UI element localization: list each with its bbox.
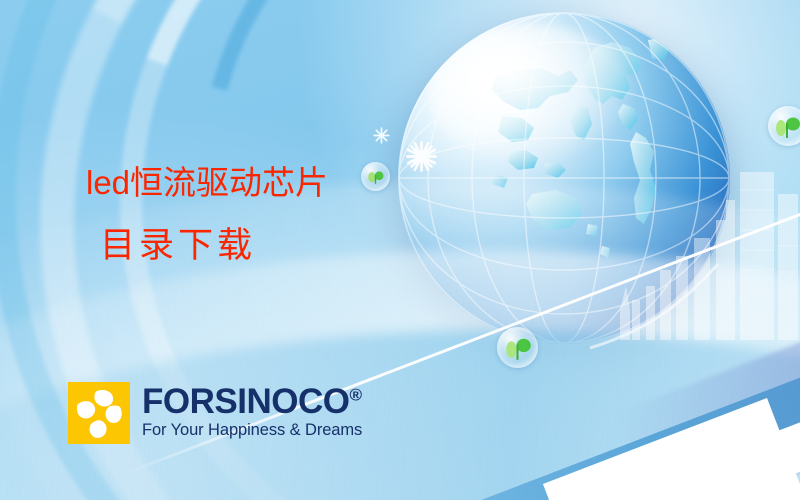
brand-logo: FORSINOCO® For Your Happiness & Dreams [68, 382, 362, 444]
pinwheel-petals [68, 382, 130, 444]
headline: led恒流驱动芯片 目录下载 [86, 162, 506, 268]
logo-text-block: FORSINOCO® For Your Happiness & Dreams [142, 382, 362, 440]
headline-line-2: 目录下载 [86, 224, 506, 268]
banner-canvas: led恒流驱动芯片 目录下载 FORSINOCO® For Your Happi… [0, 0, 800, 500]
registered-mark: ® [349, 385, 361, 404]
four-petal-pinwheel-icon [68, 382, 130, 444]
headline-line-1: led恒流驱动芯片 [86, 162, 506, 204]
brand-name-text: FORSINOCO [142, 382, 349, 421]
brand-name: FORSINOCO® [142, 384, 362, 420]
brand-tagline: For Your Happiness & Dreams [142, 421, 362, 440]
